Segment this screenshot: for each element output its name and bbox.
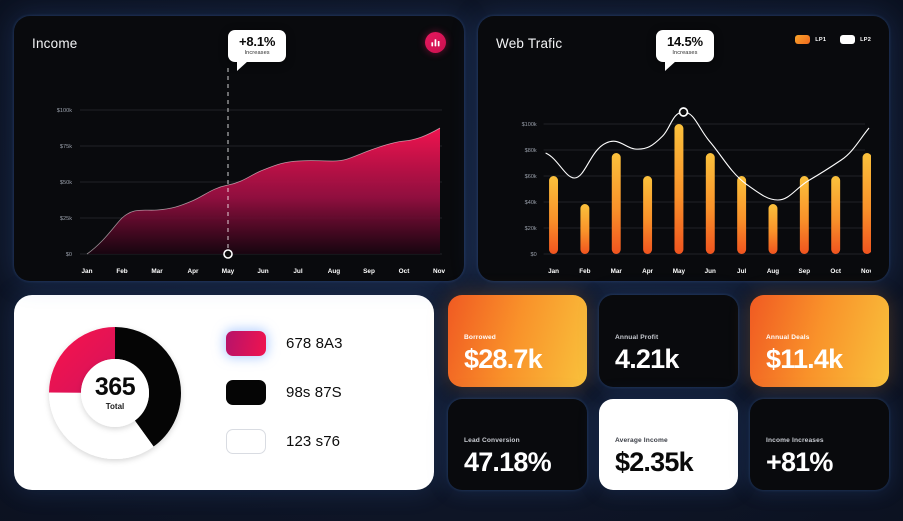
traffic-xtick-jun: Jun: [705, 268, 716, 275]
traffic-bars: [549, 124, 871, 254]
legend-swatch-lp1: [795, 35, 810, 44]
traffic-ytick-80k: $80k: [525, 148, 537, 154]
donut-center-label: 365 Total: [80, 375, 150, 411]
bar-aug[interactable]: [769, 204, 778, 254]
donut-legend-item-1[interactable]: 678 8A3: [226, 331, 343, 356]
income-ytick-100k: $100k: [57, 108, 72, 114]
income-xtick-jul: Jul: [293, 268, 302, 275]
traffic-xtick-aug: Aug: [767, 268, 779, 275]
stat-label-average-income: Average Income: [615, 437, 722, 444]
stat-label-lead-conversion: Lead Conversion: [464, 437, 571, 444]
stat-card-lead-conversion[interactable]: Lead Conversion 47.18%: [448, 399, 587, 491]
donut-chart-card: 365 Total 678 8A3 98s 87S 123 s76: [14, 295, 434, 490]
traffic-xtick-apr: Apr: [642, 268, 653, 275]
donut-legend-swatch-pink: [226, 331, 266, 356]
income-xtick-sep: Sep: [363, 268, 375, 275]
traffic-tooltip-caption: Increases: [667, 50, 703, 56]
donut-legend: 678 8A3 98s 87S 123 s76: [226, 331, 343, 454]
traffic-xtick-oct: Oct: [830, 268, 841, 275]
income-tooltip: +8.1% Increases: [228, 30, 286, 62]
stat-value-income-increases: +81%: [766, 449, 873, 476]
donut-legend-label-1: 678 8A3: [286, 335, 343, 352]
bar-feb[interactable]: [580, 204, 589, 254]
stat-card-average-income[interactable]: Average Income $2.35k: [599, 399, 738, 491]
income-tooltip-value: +8.1%: [239, 35, 275, 49]
income-chart-title: Income: [32, 32, 77, 51]
income-xtick-oct: Oct: [399, 268, 411, 275]
bar-nov[interactable]: [863, 153, 871, 254]
donut-legend-swatch-white: [226, 429, 266, 454]
traffic-chart-title: Web Trafic: [496, 32, 562, 51]
traffic-xtick-sep: Sep: [799, 268, 811, 275]
stat-value-annual-profit: 4.21k: [615, 346, 722, 373]
legend-label-lp1: LP1: [815, 37, 826, 43]
bottom-row: 365 Total 678 8A3 98s 87S 123 s76: [14, 295, 889, 490]
bar-jul[interactable]: [737, 176, 746, 254]
income-marker-dot[interactable]: [224, 250, 232, 258]
traffic-xtick-jan: Jan: [548, 268, 559, 275]
stat-value-lead-conversion: 47.18%: [464, 449, 571, 476]
bar-mar[interactable]: [612, 153, 621, 254]
income-chart-card: Income +8.1% Increases: [14, 16, 464, 281]
bar-jun[interactable]: [706, 153, 715, 254]
donut-legend-item-3[interactable]: 123 s76: [226, 429, 343, 454]
bar-jan[interactable]: [549, 176, 558, 254]
donut-legend-label-2: 98s 87S: [286, 384, 342, 401]
bar-chart-icon: [430, 37, 441, 48]
stat-label-annual-deals: Annual Deals: [766, 334, 873, 341]
stat-cards-grid: Borrowed $28.7k Annual Profit 4.21k Annu…: [448, 295, 889, 490]
traffic-xtick-feb: Feb: [579, 268, 590, 275]
income-ytick-25k: $25k: [60, 216, 72, 222]
traffic-tooltip: 14.5% Increases: [656, 30, 714, 62]
traffic-card-header: Web Trafic 14.5% Increases LP1 LP2: [496, 32, 871, 66]
stat-label-borrowed: Borrowed: [464, 334, 571, 341]
bar-oct[interactable]: [831, 176, 840, 254]
web-traffic-chart-card: Web Trafic 14.5% Increases LP1 LP2: [478, 16, 889, 281]
income-tooltip-caption: Increases: [239, 50, 275, 56]
traffic-xtick-nov: Nov: [861, 268, 871, 275]
income-ytick-75k: $75k: [60, 144, 72, 150]
legend-label-lp2: LP2: [860, 37, 871, 43]
stat-value-annual-deals: $11.4k: [766, 346, 873, 373]
bar-may[interactable]: [674, 124, 683, 254]
donut-legend-swatch-black: [226, 380, 266, 405]
traffic-xtick-mar: Mar: [611, 268, 623, 275]
income-card-header: Income +8.1% Increases: [32, 32, 446, 66]
stat-card-borrowed[interactable]: Borrowed $28.7k: [448, 295, 587, 387]
income-xtick-jan: Jan: [81, 268, 92, 275]
donut-total-caption: Total: [80, 402, 150, 411]
stat-card-annual-deals[interactable]: Annual Deals $11.4k: [750, 295, 889, 387]
income-xtick-nov: Nov: [433, 268, 446, 275]
legend-item-lp1[interactable]: LP1: [795, 35, 826, 44]
income-area-chart: $100k $75k $50k $25k $0 Jan Feb Mar: [32, 66, 446, 281]
income-xtick-jun: Jun: [257, 268, 268, 275]
donut-legend-label-3: 123 s76: [286, 433, 340, 450]
stat-label-income-increases: Income Increases: [766, 437, 873, 444]
traffic-ytick-60k: $60k: [525, 174, 537, 180]
traffic-tooltip-value: 14.5%: [667, 35, 703, 49]
legend-swatch-lp2: [840, 35, 855, 44]
stat-card-annual-profit[interactable]: Annual Profit 4.21k: [599, 295, 738, 387]
income-xtick-mar: Mar: [151, 268, 163, 275]
stat-card-income-increases[interactable]: Income Increases +81%: [750, 399, 889, 491]
traffic-ytick-0: $0: [531, 252, 537, 258]
traffic-ytick-100k: $100k: [522, 122, 537, 128]
income-area-fill: [87, 128, 440, 254]
stat-value-borrowed: $28.7k: [464, 346, 571, 373]
income-ytick-0: $0: [66, 252, 72, 258]
income-xtick-apr: Apr: [187, 268, 199, 275]
traffic-ytick-20k: $20k: [525, 226, 537, 232]
stat-label-annual-profit: Annual Profit: [615, 334, 722, 341]
traffic-xtick-may: May: [673, 268, 686, 275]
traffic-marker-dot[interactable]: [680, 108, 688, 116]
bar-sep[interactable]: [800, 176, 809, 254]
donut-chart: 365 Total: [40, 318, 190, 468]
bar-apr[interactable]: [643, 176, 652, 254]
income-ytick-50k: $50k: [60, 180, 72, 186]
legend-item-lp2[interactable]: LP2: [840, 35, 871, 44]
traffic-legend: LP1 LP2: [795, 32, 871, 44]
income-xtick-feb: Feb: [116, 268, 127, 275]
stat-value-average-income: $2.35k: [615, 449, 722, 476]
bar-chart-icon-button[interactable]: [425, 32, 446, 53]
web-traffic-bar-chart: $100k $80k $60k $40k $20k $0: [496, 66, 871, 281]
traffic-xtick-jul: Jul: [737, 268, 746, 275]
donut-total-value: 365: [80, 375, 150, 400]
income-xtick-may: May: [222, 268, 235, 275]
donut-legend-item-2[interactable]: 98s 87S: [226, 380, 343, 405]
income-xtick-aug: Aug: [328, 268, 341, 275]
dashboard-page: Income +8.1% Increases: [0, 0, 903, 521]
top-charts-row: Income +8.1% Increases: [14, 16, 889, 281]
traffic-ytick-40k: $40k: [525, 200, 537, 206]
